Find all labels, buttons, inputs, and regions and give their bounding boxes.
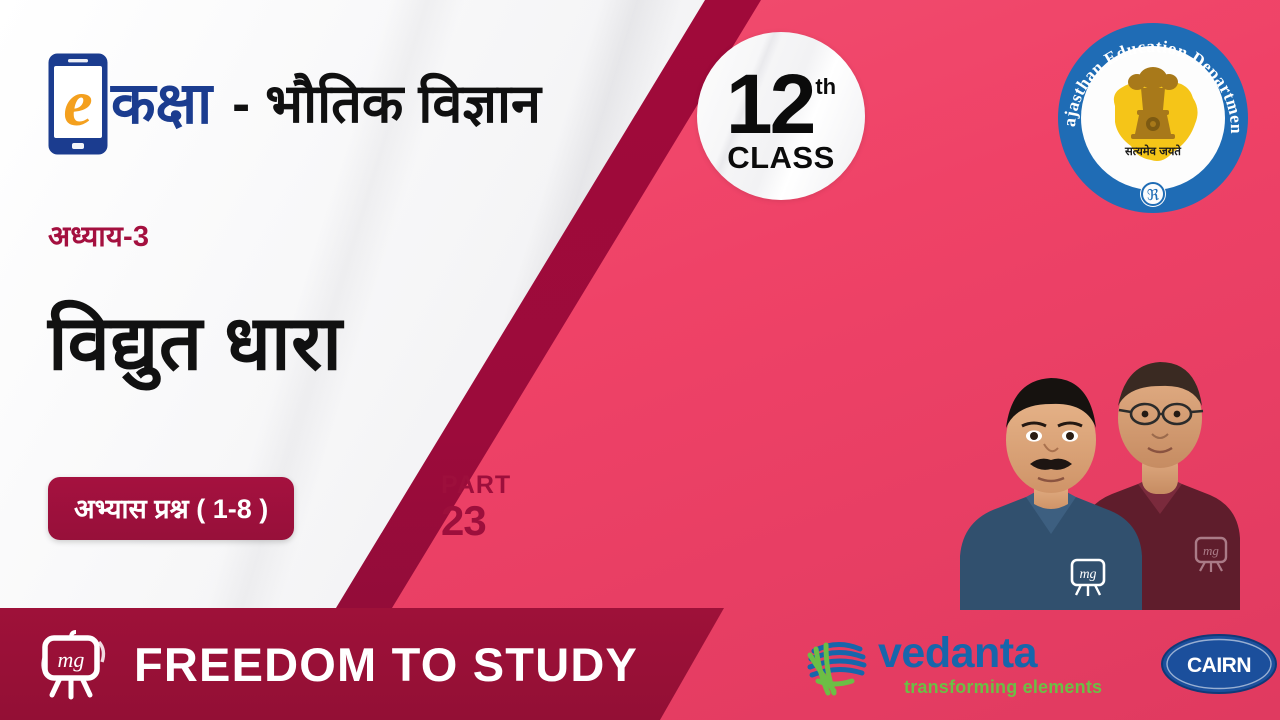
chapter-label: अध्याय-3 bbox=[48, 216, 149, 255]
thumbnail-canvas: mg bbox=[0, 0, 1280, 720]
class-number: 12 bbox=[726, 70, 813, 139]
svg-text:mg: mg bbox=[1203, 543, 1219, 558]
brand-kaksha-text: कक्षा bbox=[111, 75, 212, 133]
practice-questions-badge: अभ्यास प्रश्न ( 1-8 ) bbox=[48, 477, 294, 540]
cairn-logo: CAIRN bbox=[1160, 633, 1278, 695]
instructor-photo: mg bbox=[930, 238, 1260, 610]
rajasthan-education-department-emblem: Rajasthan Education Department सत्यमेव ज… bbox=[1053, 18, 1253, 218]
part-label: PART bbox=[441, 473, 511, 498]
phone-icon: e bbox=[47, 52, 109, 156]
svg-text:mg: mg bbox=[1079, 567, 1096, 582]
vedanta-logo: vedanta transforming elements bbox=[804, 631, 1102, 697]
cairn-wordmark: CAIRN bbox=[1187, 654, 1251, 677]
sponsor-logos: vedanta transforming elements CAIRN bbox=[790, 608, 1280, 720]
class-badge: 12 th CLASS bbox=[697, 32, 865, 200]
vedanta-tagline: transforming elements bbox=[904, 678, 1102, 696]
part-number: 23 bbox=[441, 500, 511, 542]
class-ordinal-suffix: th bbox=[815, 76, 836, 98]
brand-header: e कक्षा - भौतिक विज्ञान bbox=[47, 52, 541, 156]
emblem-motto: सत्यमेव जयते bbox=[1124, 144, 1181, 158]
class-word-label: CLASS bbox=[727, 140, 835, 176]
mg-letters: mg bbox=[58, 647, 85, 672]
part-indicator: PART 23 bbox=[441, 473, 511, 542]
vedanta-name: vedanta bbox=[878, 632, 1102, 675]
vedanta-wordmark: vedanta transforming elements bbox=[878, 632, 1102, 696]
class-number-row: 12 th bbox=[726, 70, 836, 139]
brand-e-letter: e bbox=[63, 67, 92, 140]
brand-subject-text: - भौतिक विज्ञान bbox=[232, 77, 541, 131]
vedanta-globe-icon bbox=[804, 631, 870, 697]
svg-text:ℜ: ℜ bbox=[1147, 188, 1160, 204]
page-title: विद्युत धारा bbox=[48, 302, 342, 386]
mg-board-icon: mg bbox=[36, 628, 112, 700]
footer-tagline: FREEDOM TO STUDY bbox=[134, 637, 638, 692]
